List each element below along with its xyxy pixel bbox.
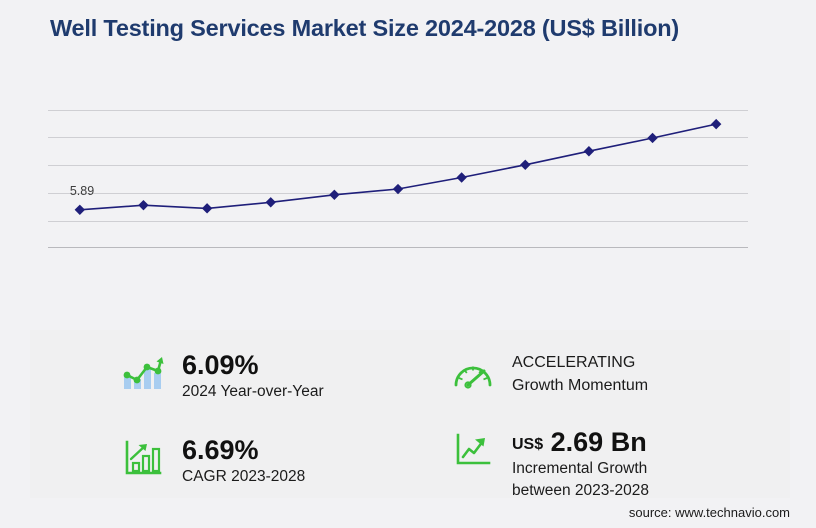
cagr-bar-chart-icon — [120, 435, 166, 481]
stat-year-over-year: 6.09% 2024 Year-over-Year — [120, 350, 324, 402]
data-point-2023 — [393, 184, 403, 194]
stat-caption: Growth Momentum — [512, 374, 648, 397]
stat-growth-momentum: ACCELERATING Growth Momentum — [450, 350, 648, 397]
speedometer-icon — [450, 350, 496, 396]
page-title: Well Testing Services Market Size 2024-2… — [50, 15, 679, 42]
stat-value: 6.09% — [182, 351, 324, 380]
stat-text: ACCELERATING Growth Momentum — [512, 350, 648, 397]
stat-text: US$ 2.69 Bn Incremental Growth between 2… — [512, 427, 649, 501]
line-chart: 5.89 20182019202020212022202320242025202… — [0, 88, 816, 283]
stats-panel: 6.09% 2024 Year-over-Year ACCELERATING G… — [30, 330, 790, 498]
data-point-2022 — [329, 190, 339, 200]
data-point-2028 — [711, 119, 721, 129]
stat-text: 6.69% CAGR 2023-2028 — [182, 435, 305, 487]
stat-text: 6.09% 2024 Year-over-Year — [182, 350, 324, 402]
data-point-2025 — [520, 160, 530, 170]
stat-caption: CAGR 2023-2028 — [182, 467, 305, 487]
stat-value: US$ 2.69 Bn — [512, 428, 649, 457]
data-point-label-2018: 5.89 — [70, 184, 94, 198]
stat-caption-line1: Incremental Growth — [512, 459, 649, 479]
bar-line-growth-icon — [120, 350, 166, 396]
stat-caption-line2: between 2023-2028 — [512, 481, 649, 501]
stat-value: 6.69% — [182, 436, 305, 465]
data-series — [48, 108, 748, 268]
data-point-2024 — [456, 172, 466, 182]
stat-unit: US$ — [512, 436, 543, 453]
stat-caption: 2024 Year-over-Year — [182, 382, 324, 402]
stat-cagr: 6.69% CAGR 2023-2028 — [120, 435, 305, 487]
stat-amount: 2.69 Bn — [551, 427, 647, 457]
data-point-2019 — [138, 200, 148, 210]
data-point-2020 — [202, 203, 212, 213]
stat-incremental-growth: US$ 2.69 Bn Incremental Growth between 2… — [450, 427, 649, 501]
chart-plot-area: 5.89 — [48, 108, 748, 268]
data-point-2026 — [584, 146, 594, 156]
source-attribution: source: www.technavio.com — [629, 505, 790, 520]
data-point-2018 — [75, 205, 85, 215]
stat-headline: ACCELERATING — [512, 351, 648, 374]
data-point-2027 — [647, 133, 657, 143]
line-arrow-up-icon — [450, 427, 496, 473]
data-point-2021 — [266, 197, 276, 207]
